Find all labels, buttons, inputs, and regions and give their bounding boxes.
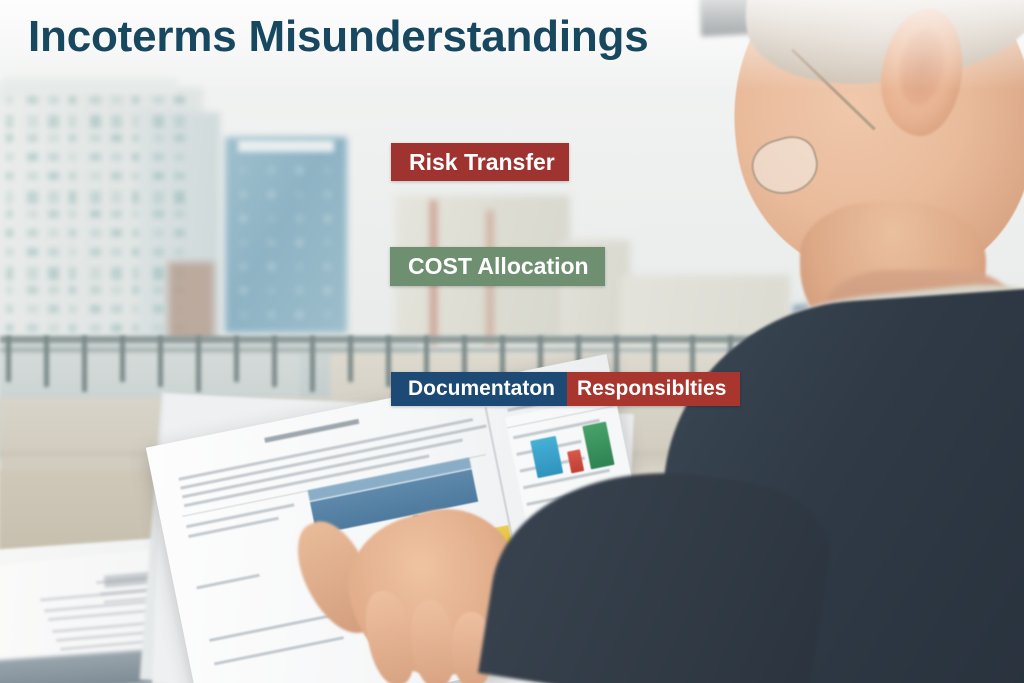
callout-documentation-responsibilities: Documentaton Responsiblties — [391, 372, 740, 406]
callout-cost-allocation: COST Allocation — [390, 247, 605, 286]
callout-risk-transfer: Risk Transfer — [391, 143, 569, 181]
building-brown-block — [168, 262, 214, 344]
callout-cost-allocation-label: COST Allocation — [408, 253, 589, 280]
hero-image: Incoterms Misunderstandings Risk Transfe… — [0, 0, 1024, 683]
building-blue-tower-windows — [225, 150, 347, 330]
callout-documentation-segment: Documentaton — [391, 372, 567, 406]
callout-risk-transfer-label: Risk Transfer — [409, 149, 555, 176]
page-title: Incoterms Misunderstandings — [28, 12, 648, 62]
callout-responsibilities-segment: Responsiblties — [567, 372, 740, 406]
